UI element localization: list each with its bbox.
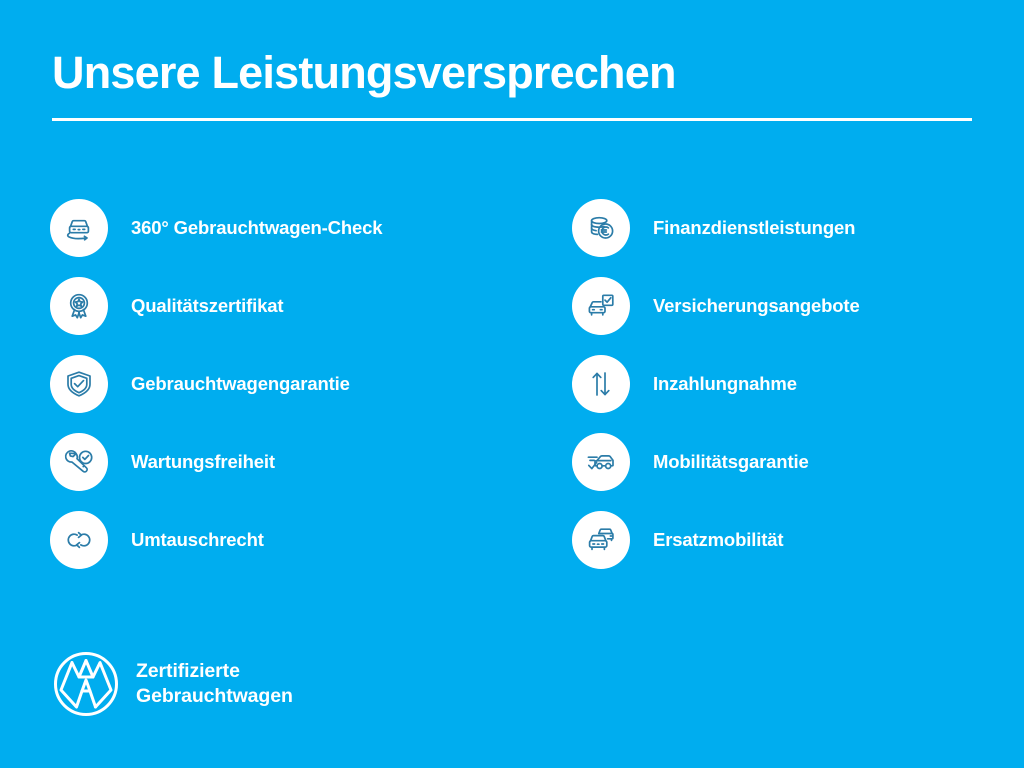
benefit-label: 360° Gebrauchtwagen-Check [131, 217, 382, 239]
benefit-item-wartungsfreiheit[interactable]: Wartungsfreiheit [50, 430, 520, 494]
benefit-item-ersatzmobilitaet[interactable]: Ersatzmobilität [572, 508, 1002, 572]
title-divider [52, 118, 972, 121]
page-title: Unsere Leistungsversprechen [52, 48, 972, 98]
two-cars-icon [572, 511, 630, 569]
benefit-item-mobilitaetsgarantie[interactable]: Mobilitätsgarantie [572, 430, 1002, 494]
volkswagen-logo [52, 650, 120, 718]
benefit-item-gebrauchtwagen-check[interactable]: 360° Gebrauchtwagen-Check [50, 196, 520, 260]
coins-euro-icon [572, 199, 630, 257]
brand-text: Zertifizierte Gebrauchtwagen [136, 659, 293, 709]
brand-text-line1: Zertifizierte [136, 659, 293, 684]
wrench-check-icon [50, 433, 108, 491]
brand-lockup: Zertifizierte Gebrauchtwagen [52, 650, 293, 718]
benefit-item-qualitaetszertifikat[interactable]: Qualitätszertifikat [50, 274, 520, 338]
benefit-label: Finanzdienstleistungen [653, 217, 855, 239]
car-document-check-icon [572, 277, 630, 335]
benefit-item-umtauschrecht[interactable]: Umtauschrecht [50, 508, 520, 572]
shield-check-icon [50, 355, 108, 413]
benefit-label: Versicherungsangebote [653, 295, 860, 317]
benefit-label: Ersatzmobilität [653, 529, 783, 551]
benefit-item-versicherungsangebote[interactable]: Versicherungsangebote [572, 274, 1002, 338]
benefit-label: Mobilitätsgarantie [653, 451, 809, 473]
exchange-arrows-icon [50, 511, 108, 569]
benefit-item-gebrauchtwagengarantie[interactable]: Gebrauchtwagengarantie [50, 352, 520, 416]
benefit-label: Gebrauchtwagengarantie [131, 373, 350, 395]
benefit-label: Wartungsfreiheit [131, 451, 275, 473]
benefits-column-left: 360° Gebrauchtwagen-Check Qualitätszerti… [50, 196, 520, 572]
car-360-check-icon [50, 199, 108, 257]
header: Unsere Leistungsversprechen [52, 48, 972, 121]
benefit-item-inzahlungnahme[interactable]: Inzahlungnahme [572, 352, 1002, 416]
brand-text-line2: Gebrauchtwagen [136, 684, 293, 709]
benefits-section: 360° Gebrauchtwagen-Check Qualitätszerti… [0, 196, 1024, 572]
benefit-label: Umtauschrecht [131, 529, 264, 551]
award-badge-icon [50, 277, 108, 335]
benefit-item-finanzdienstleistungen[interactable]: Finanzdienstleistungen [572, 196, 1002, 260]
arrows-up-down-icon [572, 355, 630, 413]
benefit-label: Inzahlungnahme [653, 373, 797, 395]
car-motion-check-icon [572, 433, 630, 491]
benefit-label: Qualitätszertifikat [131, 295, 283, 317]
slide-root: Unsere Leistungsversprechen [0, 0, 1024, 768]
benefits-column-right: Finanzdienstleistungen Versicheru [572, 196, 1002, 572]
